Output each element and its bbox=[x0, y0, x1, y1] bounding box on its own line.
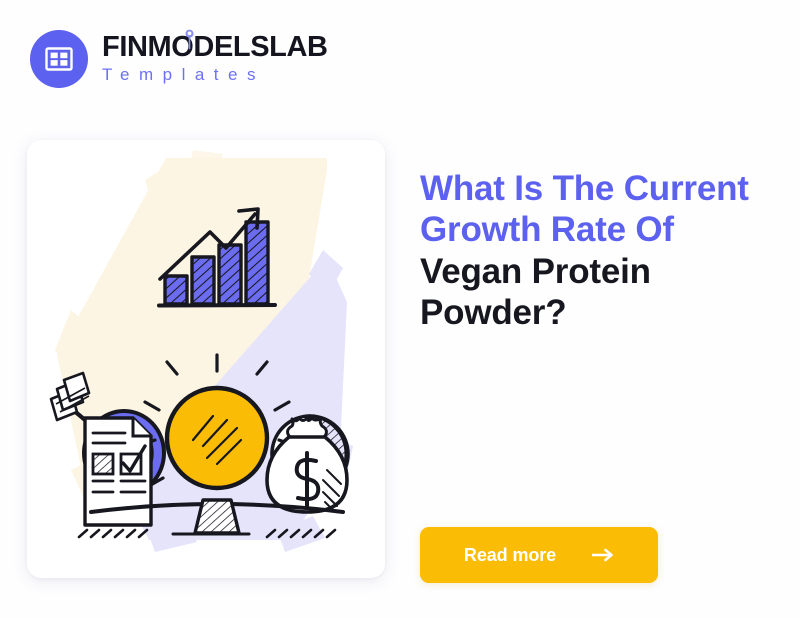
page-title: What Is The Current Growth Rate Of Vegan… bbox=[420, 168, 772, 334]
read-more-label: Read more bbox=[464, 545, 556, 566]
grid-squares-icon bbox=[44, 44, 74, 74]
headline-accent-line-2: Growth Rate Of bbox=[420, 209, 772, 250]
headline-subject-line-1: Vegan Protein bbox=[420, 251, 772, 292]
droplet-pin-icon bbox=[185, 27, 194, 48]
read-more-button[interactable]: Read more bbox=[420, 527, 658, 583]
brand-header: FINMODELSLAB Templates bbox=[30, 30, 328, 88]
brand-subwordmark: Templates bbox=[102, 66, 328, 85]
headline-subject-line-2: Powder? bbox=[420, 292, 772, 333]
illustration-card bbox=[27, 140, 385, 578]
headline-accent-line-1: What Is The Current bbox=[420, 168, 772, 209]
business-growth-illustration bbox=[27, 140, 385, 578]
content-column: What Is The Current Growth Rate Of Vegan… bbox=[420, 168, 772, 334]
brand-logo-mark[interactable] bbox=[30, 30, 88, 88]
brand-wordmark-block: FINMODELSLAB Templates bbox=[102, 33, 328, 84]
glowing-coin bbox=[167, 388, 267, 488]
brand-wordmark-text: FINMODELSLAB bbox=[102, 31, 328, 63]
brand-wordmark: FINMODELSLAB bbox=[102, 33, 328, 63]
arrow-right-icon bbox=[592, 548, 614, 562]
